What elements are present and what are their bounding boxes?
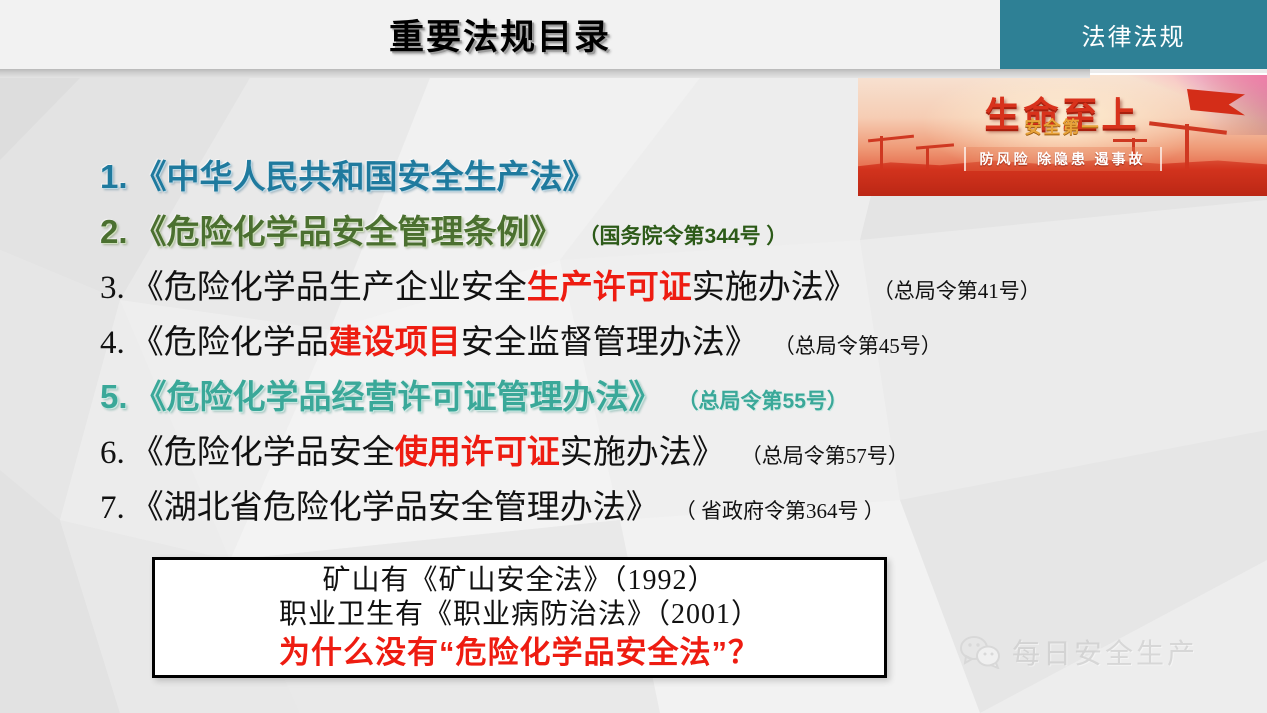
list-item-title-part: 《湖北省危险化学品安全管理办法》 [131, 490, 659, 526]
list-item-title-part: 使用许可证 [395, 433, 560, 470]
list-item-title: 《危险化学品安全使用许可证实施办法》 [131, 425, 725, 473]
list-item-title-part: 《危险化学品经营许可证管理办法》 [134, 378, 662, 415]
watermark-label: 每日安全生产 [1012, 632, 1198, 672]
callout-line-3-question: 为什么没有“危险化学品安全法”？ [279, 634, 760, 671]
list-item-title-part: 《危险化学品安全管理条例》 [134, 213, 563, 250]
list-item-title-part: 《危险化学品 [131, 325, 329, 361]
list-item-decree-note: （ 省政府令第364号 ） [675, 495, 885, 525]
list-item-title-part: 生产许可证 [527, 268, 692, 305]
list-item: 5.《危险化学品经营许可证管理办法》（总局令第55号） [0, 370, 1000, 425]
list-item: 4.《危险化学品建设项目安全监督管理办法》（总局令第45号） [0, 315, 1000, 370]
list-item-title: 《危险化学品生产企业安全生产许可证实施办法》 [131, 260, 857, 308]
callout-line-2: 职业卫生有《职业病防治法》（2001） [279, 598, 760, 632]
slide-root: 重要法规目录 法律法规 生命至上 安全第一 防风险 除隐患 遏事故 1.《中华人… [0, 0, 1267, 713]
list-item-number: 5. [100, 378, 128, 416]
list-item-number: 1. [100, 158, 128, 196]
callout-line-1: 矿山有《矿山安全法》（1992） [322, 564, 716, 598]
list-item-title: 《危险化学品安全管理条例》 [134, 205, 563, 253]
list-item-title: 《湖北省危险化学品安全管理办法》 [131, 480, 659, 528]
list-item-title: 《危险化学品建设项目安全监督管理办法》 [131, 315, 758, 363]
list-item-number: 6. [100, 435, 125, 472]
list-item-title-part: 《危险化学品安全 [131, 435, 395, 471]
watermark: 每日安全生产 [960, 632, 1198, 672]
page-title: 重要法规目录 [0, 0, 1000, 69]
crane-silhouette [1113, 139, 1147, 142]
list-item-number: 4. [100, 325, 125, 362]
question-callout-box: 矿山有《矿山安全法》（1992） 职业卫生有《职业病防治法》（2001） 为什么… [152, 557, 887, 678]
list-item-title-part: 实施办法》 [560, 435, 725, 471]
slide-header: 重要法规目录 法律法规 [0, 0, 1267, 69]
section-tab-label: 法律法规 [1082, 17, 1186, 52]
list-item-decree-note: （总局令第57号） [741, 440, 909, 470]
list-item-number: 7. [100, 490, 125, 527]
header-divider-shadow [0, 69, 1090, 78]
list-item: 2.《危险化学品安全管理条例》（国务院令第344号 ） [0, 205, 1000, 260]
regulation-list: 1.《中华人民共和国安全生产法》2.《危险化学品安全管理条例》（国务院令第344… [0, 150, 1000, 535]
list-item-title: 《中华人民共和国安全生产法》 [134, 150, 596, 198]
list-item: 6.《危险化学品安全使用许可证实施办法》（总局令第57号） [0, 425, 1000, 480]
list-item-title-part: 安全监督管理办法》 [461, 325, 758, 361]
list-item-title-part: 《中华人民共和国安全生产法》 [134, 158, 596, 195]
section-tab-legal[interactable]: 法律法规 [1000, 0, 1267, 69]
list-item-decree-note: （国务院令第344号 ） [579, 220, 788, 250]
list-item-title: 《危险化学品经营许可证管理办法》 [134, 370, 662, 418]
list-item-title-part: 《危险化学品生产企业安全 [131, 270, 527, 306]
list-item-decree-note: （总局令第41号） [873, 275, 1041, 305]
list-item-title-part: 建设项目 [329, 323, 461, 360]
list-item: 1.《中华人民共和国安全生产法》 [0, 150, 1000, 205]
poster-subhead: 安全第一 [858, 113, 1267, 138]
safety-poster-banner: 生命至上 安全第一 防风险 除隐患 遏事故 [858, 73, 1267, 196]
list-item-title-part: 实施办法》 [692, 270, 857, 306]
list-item: 3.《危险化学品生产企业安全生产许可证实施办法》（总局令第41号） [0, 260, 1000, 315]
poster-slogan: 防风险 除隐患 遏事故 [964, 147, 1162, 171]
list-item-number: 3. [100, 270, 125, 307]
list-item-number: 2. [100, 213, 128, 251]
wechat-icon [960, 635, 1002, 669]
list-item: 7.《湖北省危险化学品安全管理办法》（ 省政府令第364号 ） [0, 480, 1000, 535]
list-item-decree-note: （总局令第55号） [678, 385, 848, 415]
list-item-decree-note: （总局令第45号） [774, 330, 942, 360]
